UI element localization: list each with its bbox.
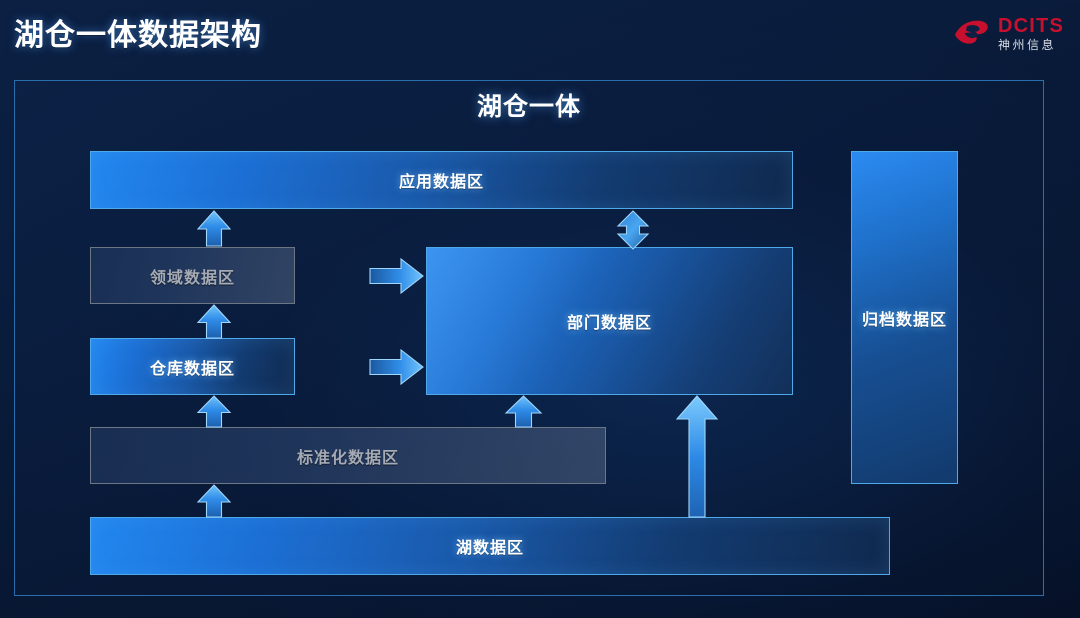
arrow-up-icon-warehouse-to-domain xyxy=(196,304,232,339)
slide-header: 湖仓一体数据架构 DCITS 神州信息 xyxy=(0,0,1080,68)
node-label: 应用数据区 xyxy=(399,168,484,192)
arrow-right-icon-domain-to-department xyxy=(369,257,424,295)
architecture-panel: 湖仓一体 应用数据区 领域数据区 仓库数据区 标准化数据区 湖数据区 部门数据区… xyxy=(14,80,1044,596)
node-label: 标准化数据区 xyxy=(297,444,399,468)
dcits-swirl-icon xyxy=(951,16,991,50)
node-label: 归档数据区 xyxy=(862,306,947,330)
slide-canvas: 湖仓一体数据架构 DCITS 神州信息 湖仓一体 应用数据区 领域数据区 仓库 xyxy=(0,0,1080,618)
arrow-up-icon-lake-to-standardized xyxy=(196,484,232,518)
node-standardized-data-zone[interactable]: 标准化数据区 xyxy=(90,427,606,484)
node-department-data-zone[interactable]: 部门数据区 xyxy=(426,247,793,395)
arrow-up-icon-domain-to-application xyxy=(196,210,232,247)
arrow-up-long-icon-lake-to-department xyxy=(675,395,719,518)
panel-title: 湖仓一体 xyxy=(15,87,1043,123)
logo-subtitle: 神州信息 xyxy=(998,39,1064,51)
node-label: 仓库数据区 xyxy=(150,355,235,379)
arrow-right-icon-warehouse-to-department xyxy=(369,348,424,386)
arrow-up-icon-standardized-to-warehouse xyxy=(196,395,232,428)
node-label: 部门数据区 xyxy=(567,309,652,333)
node-warehouse-data-zone[interactable]: 仓库数据区 xyxy=(90,338,295,395)
node-lake-data-zone[interactable]: 湖数据区 xyxy=(90,517,890,575)
node-domain-data-zone[interactable]: 领域数据区 xyxy=(90,247,295,304)
node-application-data-zone[interactable]: 应用数据区 xyxy=(90,151,793,209)
node-archive-data-zone[interactable]: 归档数据区 xyxy=(851,151,958,484)
node-label: 领域数据区 xyxy=(150,264,235,288)
company-logo: DCITS 神州信息 xyxy=(951,10,1064,56)
arrow-up-icon-standardized-to-department xyxy=(504,395,543,428)
node-label: 湖数据区 xyxy=(456,534,524,558)
logo-wordmark: DCITS 神州信息 xyxy=(998,16,1064,51)
arrow-up-down-icon-application-department xyxy=(612,210,654,250)
logo-name: DCITS xyxy=(998,16,1064,36)
page-title: 湖仓一体数据架构 xyxy=(14,10,262,54)
